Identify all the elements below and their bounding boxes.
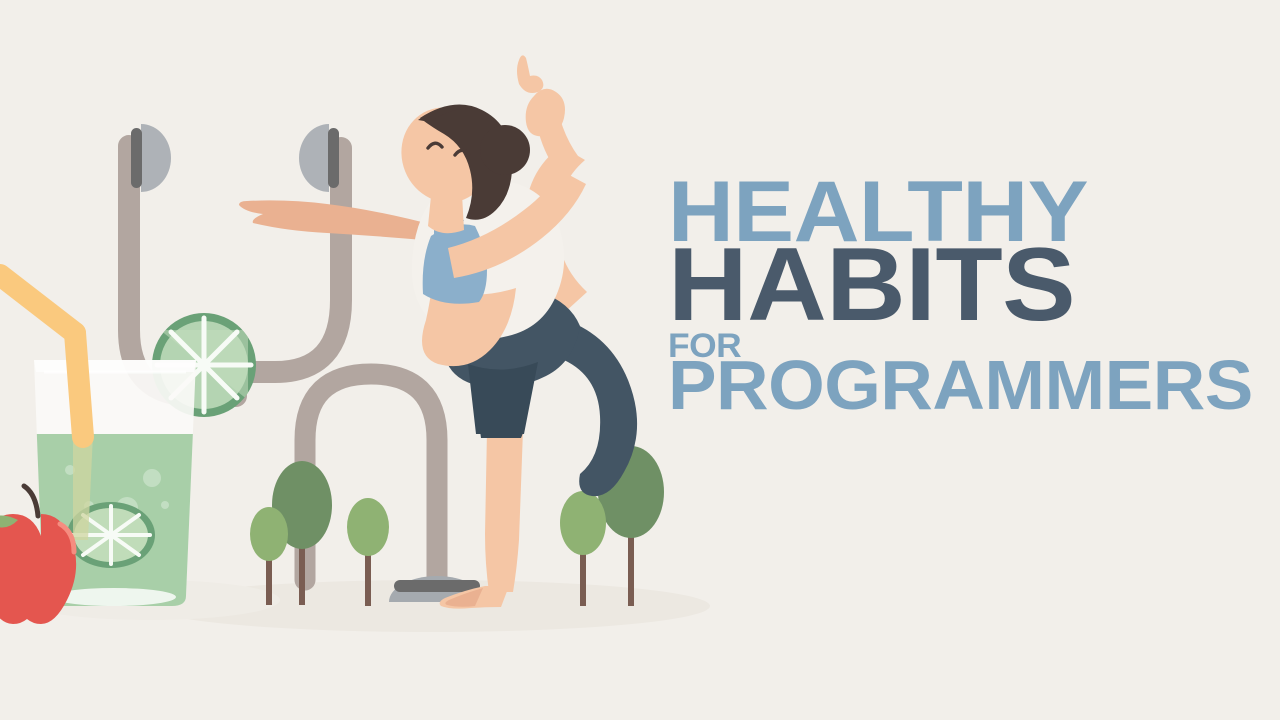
- title-line-programmers: PROGRAMMERS: [668, 356, 1250, 415]
- weight-plate-dark: [131, 128, 142, 188]
- tree-canopy: [250, 507, 288, 561]
- title-block: HEALTHY HABITS FOR PROGRAMMERS: [668, 176, 1228, 415]
- bubble: [161, 501, 169, 509]
- straw-lower: [75, 333, 83, 437]
- illustration-canvas: HEALTHY HABITS FOR PROGRAMMERS: [0, 0, 1280, 720]
- tree-canopy: [347, 498, 389, 556]
- glass-rim: [34, 360, 196, 372]
- title-line-habits: HABITS: [668, 242, 1262, 329]
- bubble: [143, 469, 161, 487]
- tree-trunk: [365, 552, 371, 606]
- hair-bun: [480, 125, 530, 175]
- tree-canopy: [560, 491, 606, 555]
- capri-hem: [479, 424, 525, 438]
- tree-trunk: [266, 555, 272, 605]
